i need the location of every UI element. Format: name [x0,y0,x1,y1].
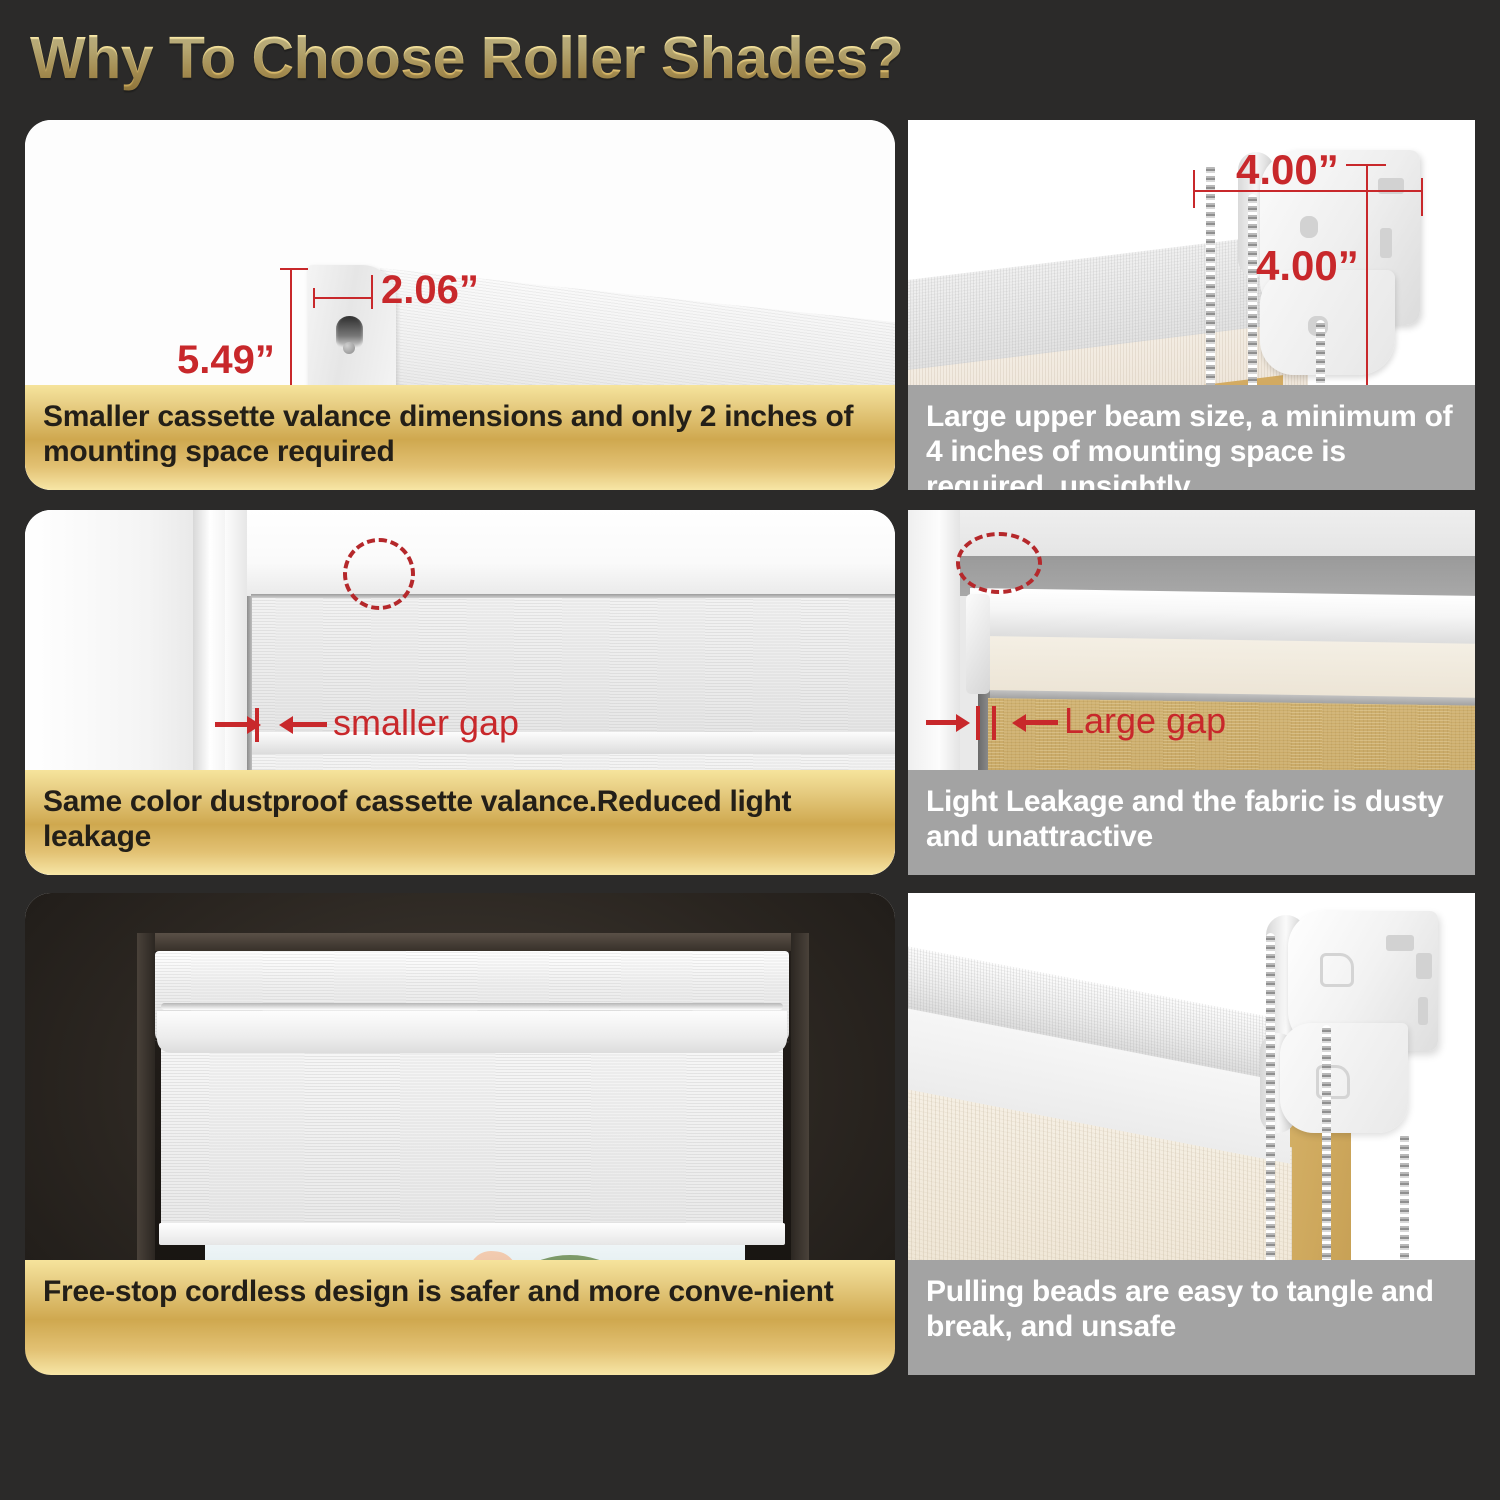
arrow-left-icon [1012,714,1026,732]
panel-large-upper-beam: 4.00” 4.00” Large upper beam size, a min… [908,120,1475,490]
arrow-left-icon [279,716,293,734]
width-dimension-label: 2.06” [381,268,479,313]
bracket-hook-icon [1320,953,1354,987]
height-dimension-label: 5.49” [177,338,275,383]
shade-fabric [161,1049,783,1229]
screw-icon [343,342,355,354]
gap-arrow-left-stem [215,722,249,727]
gap-callout-label: smaller gap [333,702,519,744]
gap-arrow-right-stem [293,722,327,727]
bracket-slot [1418,997,1428,1025]
infographic-root: Why To Choose Roller Shades? 5.49” 2.06”… [0,0,1500,1500]
bracket-notch [1386,935,1414,951]
caption-pulling-beads: Pulling beads are easy to tangle and bre… [908,1260,1475,1375]
cassette-slot [161,1003,783,1010]
panel-cassette-valance: 5.49” 2.06” Smaller cassette valance dim… [25,120,895,490]
panel-pulling-beads: Pulling beads are easy to tangle and bre… [908,893,1475,1375]
width-dimension-label: 4.00” [1236,146,1339,194]
width-tick-right [1421,178,1423,216]
hem-bar [159,1223,785,1245]
gap-arrow-right-stem [1026,720,1058,725]
caption-cassette-valance: Smaller cassette valance dimensions and … [25,385,895,490]
width-tick-left [1193,170,1195,208]
bracket-hook-icon [1300,216,1318,238]
panel-cordless-design: Free-stop cordless design is safer and m… [25,893,895,1375]
height-tick-top [280,268,308,270]
caption-large-upper-beam: Large upper beam size, a minimum of 4 in… [908,385,1475,490]
bracket-notch [1416,953,1432,979]
gap-callout-label: Large gap [1064,700,1226,742]
height-tick-top [1346,164,1386,166]
mounting-bracket [966,594,990,694]
panel-light-leakage: Large gap Light Leakage and the fabric i… [908,510,1475,875]
width-tick-left [313,288,315,308]
caption-cordless-design: Free-stop cordless design is safer and m… [25,1260,895,1375]
highlight-circle-icon [343,538,415,610]
width-dimension-line [313,297,373,299]
arrow-right-icon [956,714,970,732]
gap-marker [992,706,996,740]
width-tick-right [371,275,373,309]
highlight-circle-icon [956,532,1042,594]
page-title: Why To Choose Roller Shades? [30,22,1130,94]
roller-tube [157,1011,787,1053]
gap-arrow-left-stem [926,720,958,725]
arrow-right-icon [247,716,261,734]
height-dimension-label: 4.00” [1256,242,1359,290]
caption-dustproof-valance: Same color dustproof cassette valance.Re… [25,770,895,875]
bracket-slot [1380,228,1392,258]
panel-dustproof-valance: smaller gap Same color dustproof cassett… [25,510,895,875]
window-head [137,933,809,951]
caption-light-leakage: Light Leakage and the fabric is dusty an… [908,770,1475,875]
gap-marker [976,706,980,740]
